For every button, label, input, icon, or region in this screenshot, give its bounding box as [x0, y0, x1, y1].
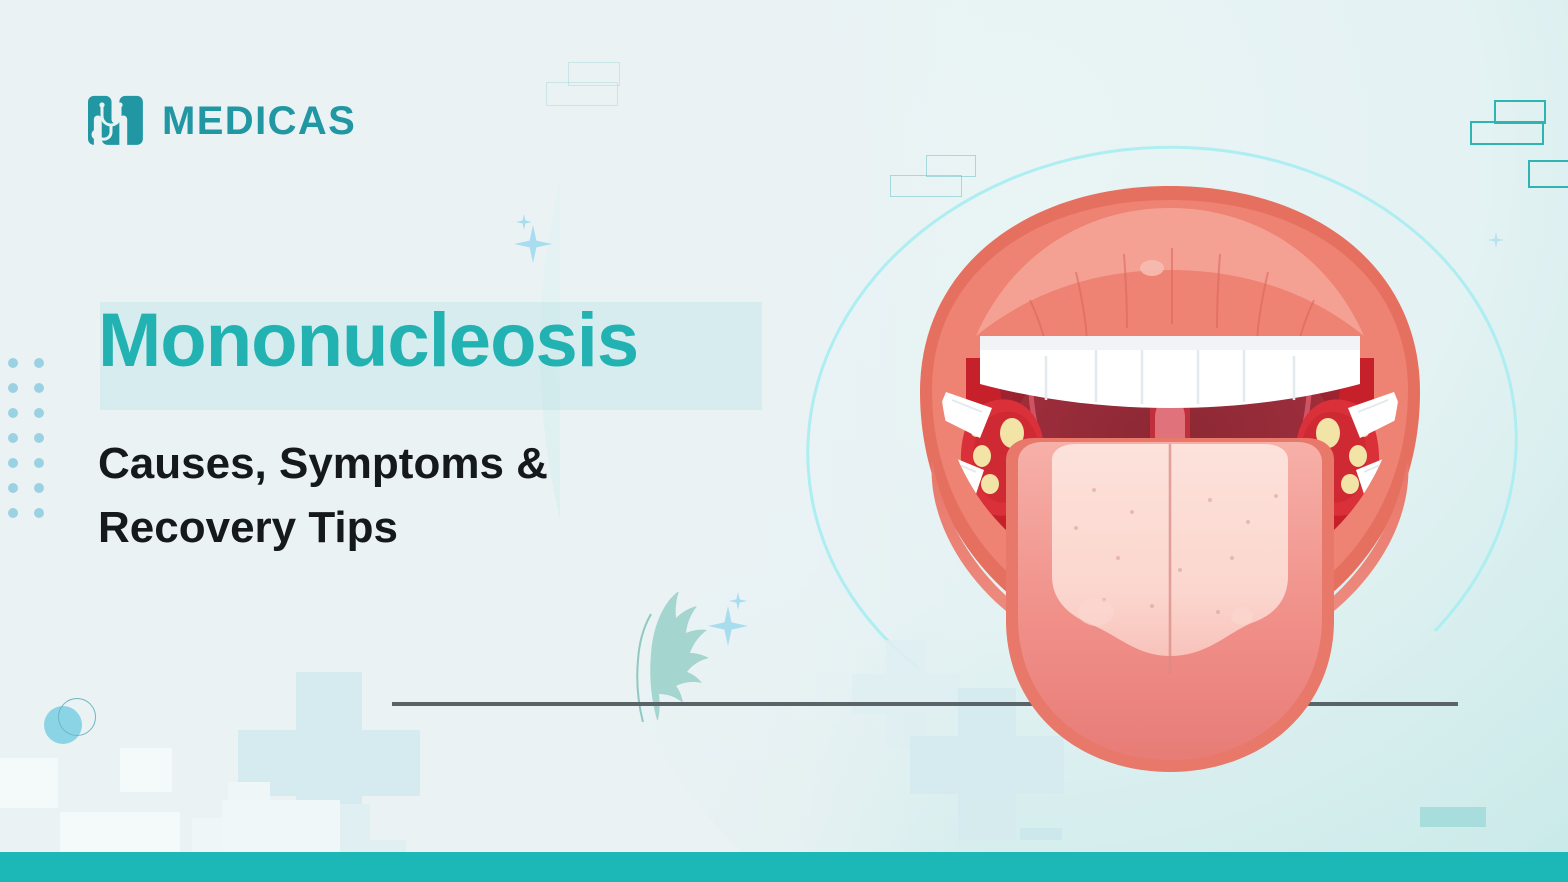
tongue — [1006, 438, 1334, 772]
block-decoration — [0, 758, 58, 808]
chip-decoration — [1420, 807, 1486, 827]
rect-outline-decoration — [1528, 160, 1568, 188]
banner-canvas: MEDICAS Mononucleosis Causes, Symptoms &… — [0, 0, 1568, 882]
subtitle-line-1: Causes, Symptoms & — [98, 432, 798, 496]
page-title: Mononucleosis — [98, 300, 798, 382]
brand-name: MEDICAS — [162, 99, 356, 144]
dot-grid-decoration — [8, 358, 54, 510]
lip-gloss-highlight — [1140, 260, 1164, 276]
circle-outline-decoration — [58, 698, 96, 736]
medical-m-stethoscope-logo-icon — [88, 92, 144, 150]
brand-logo[interactable]: MEDICAS — [88, 92, 356, 150]
bottom-accent-bar — [0, 852, 1568, 882]
subtitle-line-2: Recovery Tips — [98, 496, 798, 560]
page-subtitle: Causes, Symptoms & Recovery Tips — [98, 432, 798, 560]
rect-outline-decoration — [1470, 121, 1544, 145]
rect-outline-decoration — [546, 82, 618, 106]
block-decoration — [222, 800, 340, 858]
open-mouth-illustration — [880, 160, 1460, 780]
